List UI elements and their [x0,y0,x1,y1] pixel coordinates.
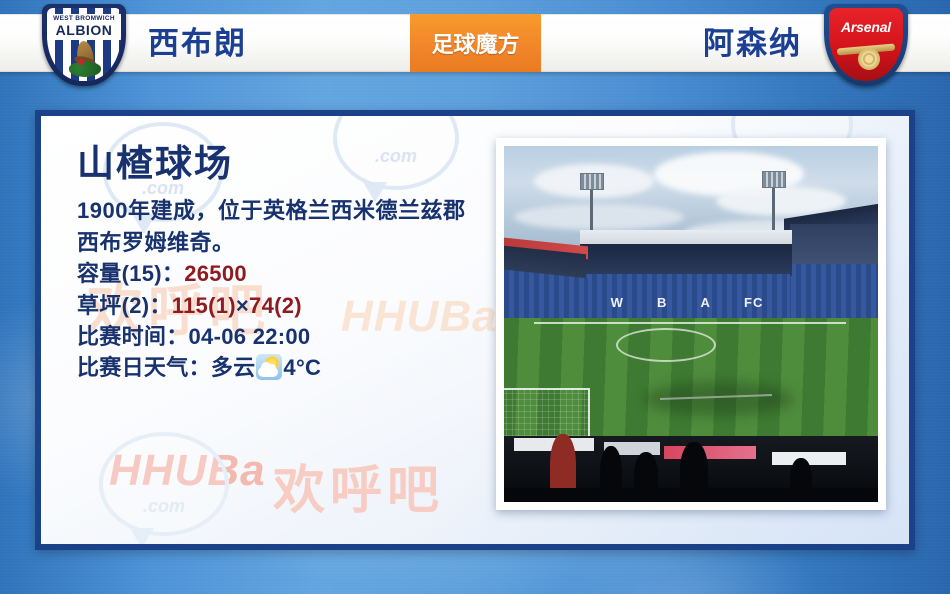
site-logo[interactable]: 足球魔方 [410,14,541,72]
photo-seat-lettering: W B A FC [594,290,780,314]
photo-cloud [514,204,684,230]
pitch-center-circle [616,328,716,362]
hawthorn-leaf-icon [69,62,101,77]
pitch-separator: × [236,293,249,318]
match-header: WEST BROMWICH ALBION 西布朗 足球魔方 阿森纳 Arsena… [0,0,950,88]
pitch-width-value: 74(2) [249,293,302,318]
photo-main-stand-facade [580,244,792,276]
away-team-crest[interactable]: Arsenal [824,4,908,86]
watermark-bubble-tail [130,528,154,548]
watermark-domain: .com [103,496,225,517]
floodlight-head [580,173,604,190]
capacity-label: 容量(15)： [77,261,184,286]
wba-crest-line1: WEST BROMWICH [47,15,121,22]
home-team-crest[interactable]: WEST BROMWICH ALBION [42,4,126,86]
cloud-icon [258,367,278,377]
capacity-row: 容量(15)：26500 [77,258,487,289]
watermark-brand: 欢呼吧 [273,448,444,523]
weather-condition: 多云 [211,355,256,380]
capacity-value: 26500 [184,261,247,286]
pitch-label: 草坪(2)： [77,293,172,318]
partly-cloudy-icon [256,354,282,380]
stadium-info-card: .com .com .com HHUBa .com 欢呼吧 欢呼吧 HHUBa … [35,110,915,550]
site-logo-text: 足球魔方 [431,27,519,59]
seat-letter: B [657,295,667,310]
away-team-name: 阿森纳 [703,22,802,66]
photo-advert-board [664,446,756,459]
stadium-photo-frame: W B A FC [496,138,886,510]
match-time-label: 比赛时间： [77,324,189,349]
stadium-description: 1900年建成，位于英格兰西米德兰兹郡西布罗姆维奇。 [77,195,487,259]
photo-goal-net [504,388,590,436]
match-time-value: 04-06 22:00 [189,324,311,349]
stadium-info-block: 山楂球场 1900年建成，位于英格兰西米德兰兹郡西布罗姆维奇。 容量(15)：2… [77,144,487,383]
stadium-title: 山楂球场 [77,144,487,185]
match-time-row: 比赛时间：04-06 22:00 [77,321,487,352]
wba-crest-line2: ALBION [47,22,121,38]
watermark-site-name: HHUBa [109,446,266,496]
arsenal-wordmark: Arsenal [829,19,903,35]
home-team-name: 西布朗 [148,22,247,66]
pitch-shadow [644,382,794,416]
seat-letter: FC [744,295,763,310]
watermark-bubble: .com [99,432,229,536]
cannon-wheel-icon [858,48,880,70]
seat-letter: A [701,295,711,310]
weather-label: 比赛日天气： [77,355,211,380]
stadium-photo: W B A FC [504,146,878,502]
weather-temperature: 4°C [283,355,321,380]
pitch-size-row: 草坪(2)：115(1)×74(2) [77,290,487,321]
pitch-length-value: 115(1) [172,293,236,318]
pitch-touchline-far [534,322,846,324]
photo-foreground-base [504,488,878,502]
header-shadow [0,72,950,77]
seat-letter: W [611,295,624,310]
match-weather-row: 比赛日天气：多云 4°C [77,352,487,383]
floodlight-head [762,171,786,188]
